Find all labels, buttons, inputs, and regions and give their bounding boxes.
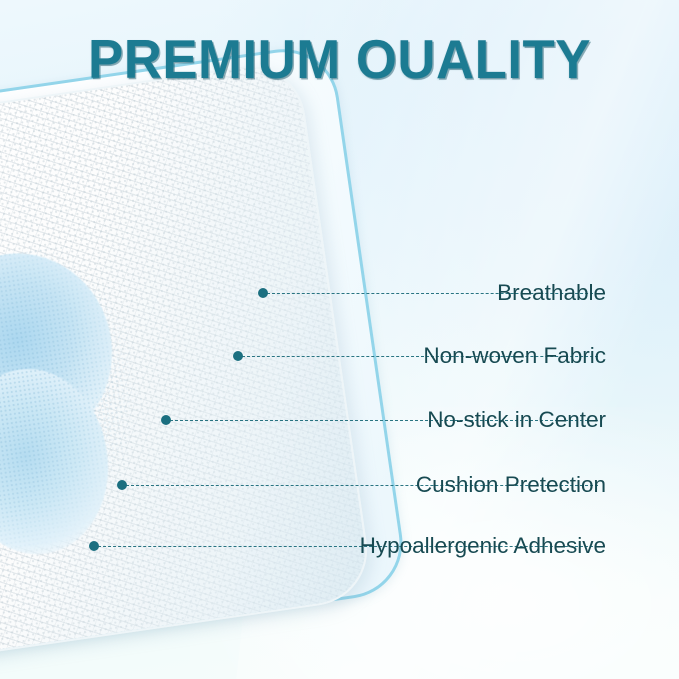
- product-feature-graphic: PREMIUM OUALITY Breathable Non-woven Fab…: [0, 0, 679, 679]
- callout-label: Hypoallergenic Adhesive: [360, 533, 606, 559]
- callout-label: Breathable: [497, 280, 606, 306]
- callout-label: Non-woven Fabric: [423, 343, 606, 369]
- callout-no-stick-in-center: No-stick in Center: [0, 407, 679, 433]
- callout-hypoallergenic-adhesive: Hypoallergenic Adhesive: [0, 533, 679, 559]
- callout-label: Cushion Pretection: [416, 472, 606, 498]
- callout-breathable: Breathable: [0, 280, 679, 306]
- callout-cushion-protection: Cushion Pretection: [0, 472, 679, 498]
- callout-label: No-stick in Center: [427, 407, 606, 433]
- feature-callout-list: Breathable Non-woven Fabric No-stick in …: [0, 0, 679, 679]
- callout-non-woven-fabric: Non-woven Fabric: [0, 343, 679, 369]
